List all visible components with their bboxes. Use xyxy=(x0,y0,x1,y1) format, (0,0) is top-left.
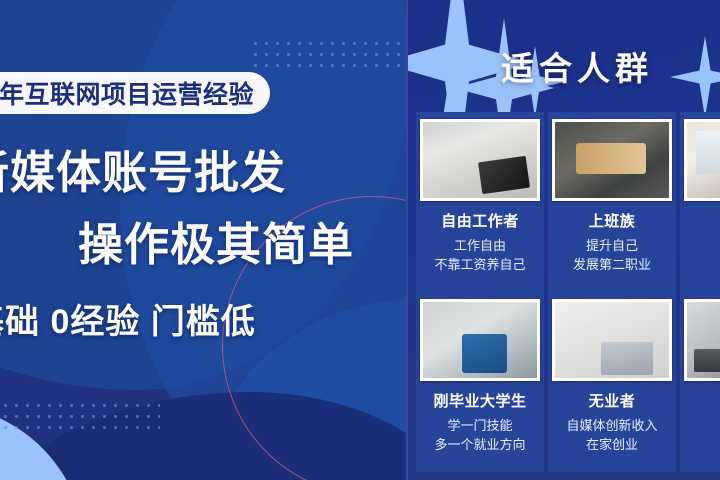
card-title: 上班族 xyxy=(589,210,636,231)
card-photo-frame xyxy=(420,299,540,381)
card-desc-line: 提升自己 xyxy=(573,237,651,256)
audience-card[interactable]: 刚毕业大学生 学一门技能 多一个就业方向 xyxy=(416,292,544,472)
student-desk-photo xyxy=(423,302,537,378)
card-desc-line: 在家创业 xyxy=(566,436,657,455)
card-description: 提升自己 发展第二职业 xyxy=(573,237,651,275)
dot-grid-top-icon xyxy=(250,38,406,71)
right-audience-panel: 适合人群 自由工作者 工作自由 不靠工资养自己 上班族 提升自己 xyxy=(408,0,720,480)
home-interior-photo xyxy=(687,122,720,198)
experience-tag-label: 年互联网项目运营经验 xyxy=(0,75,254,111)
audience-card[interactable]: 自由工作者 工作自由 不靠工资养自己 xyxy=(416,112,544,292)
card-desc-line: 学一门技能 xyxy=(434,417,525,436)
office-meeting-topdown-photo xyxy=(555,122,669,198)
card-photo-frame xyxy=(684,299,720,381)
card-desc-line: 多一个就业方向 xyxy=(434,436,525,455)
card-description: 学一门技能 多一个就业方向 xyxy=(434,417,525,455)
card-desc-line: 工作自由 xyxy=(434,237,525,256)
card-description: 自媒体创新收入 在家创业 xyxy=(566,417,657,455)
left-promo-panel: 年互联网项目运营经验 新媒体账号批发 操作极其简单 基础 0经验 门槛低 xyxy=(0,0,406,480)
card-desc-line: 发展第二职业 xyxy=(573,256,651,275)
card-desc-line: 自媒体创新收入 xyxy=(566,417,657,436)
card-desc-line: 不靠工资养自己 xyxy=(434,256,525,275)
audience-card[interactable]: 创 低成 无压 xyxy=(680,292,720,472)
card-photo-frame xyxy=(552,299,672,381)
bedroom-laptop-photo xyxy=(423,122,537,198)
card-description: 工作自由 不靠工资养自己 xyxy=(434,237,525,275)
audience-card-grid: 自由工作者 工作自由 不靠工资养自己 上班族 提升自己 发展第二职业 xyxy=(416,112,720,472)
card-photo-frame xyxy=(420,119,540,201)
audience-card[interactable]: 减轻 减轻 提升 xyxy=(680,112,720,292)
poster-canvas: 年互联网项目运营经验 新媒体账号批发 操作极其简单 基础 0经验 门槛低 适合人… xyxy=(0,0,720,480)
audience-card[interactable]: 上班族 提升自己 发展第二职业 xyxy=(548,112,676,292)
audience-panel-title: 适合人群 xyxy=(408,42,720,90)
card-title: 无业者 xyxy=(589,390,636,411)
card-title: 刚毕业大学生 xyxy=(433,390,526,411)
dot-grid-bottom-icon xyxy=(0,400,160,433)
card-photo-frame xyxy=(684,119,720,201)
cafe-counter-photo xyxy=(687,302,720,378)
card-photo-frame xyxy=(552,119,672,201)
woman-stressed-laptop-photo xyxy=(555,302,669,378)
headline-tertiary: 基础 0经验 门槛低 xyxy=(0,294,256,343)
experience-tag-pill: 年互联网项目运营经验 xyxy=(0,72,270,114)
audience-card[interactable]: 无业者 自媒体创新收入 在家创业 xyxy=(548,292,676,472)
card-title: 自由工作者 xyxy=(441,210,519,231)
headline-secondary: 操作极其简单 xyxy=(78,208,354,273)
headline-primary: 新媒体账号批发 xyxy=(0,136,286,201)
